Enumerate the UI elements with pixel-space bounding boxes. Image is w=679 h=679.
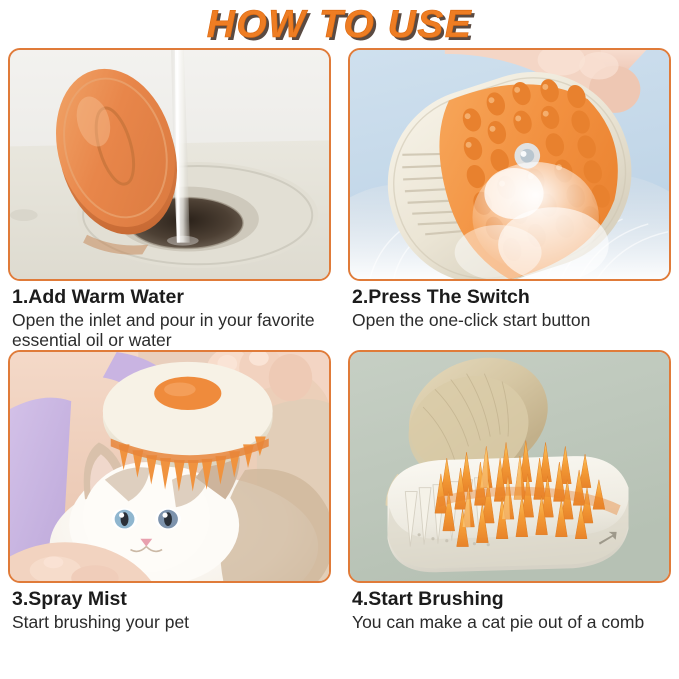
photo-press-the-switch bbox=[348, 48, 671, 281]
illustration-press-the-switch bbox=[350, 50, 669, 279]
how-to-use-steps-grid: 1.Add Warm Water Open the inlet and pour… bbox=[0, 48, 679, 633]
step-title-4: 4.Start Brushing bbox=[352, 589, 669, 611]
step-title-3: 3.Spray Mist bbox=[12, 589, 329, 611]
photo-add-warm-water bbox=[8, 48, 331, 281]
page-title: HOW TO USE bbox=[207, 5, 473, 44]
step-title-1: 1.Add Warm Water bbox=[12, 287, 329, 309]
header: HOW TO USE bbox=[0, 0, 679, 48]
illustration-add-warm-water bbox=[10, 50, 329, 279]
step-description-3: Start brushing your pet bbox=[12, 612, 329, 632]
step-description-2: Open the one-click start button bbox=[352, 310, 669, 330]
illustration-start-brushing bbox=[350, 352, 669, 581]
caption-2: 2.Press The Switch Open the one-click st… bbox=[348, 281, 671, 330]
step-title-2: 2.Press The Switch bbox=[352, 287, 669, 309]
step-card-1: 1.Add Warm Water Open the inlet and pour… bbox=[0, 48, 339, 350]
step-card-2: 2.Press The Switch Open the one-click st… bbox=[340, 48, 679, 350]
caption-1: 1.Add Warm Water Open the inlet and pour… bbox=[8, 281, 331, 350]
step-description-1: Open the inlet and pour in your favorite… bbox=[12, 310, 329, 351]
illustration-spray-mist bbox=[10, 352, 329, 581]
photo-spray-mist bbox=[8, 350, 331, 583]
photo-start-brushing bbox=[348, 350, 671, 583]
caption-3: 3.Spray Mist Start brushing your pet bbox=[8, 583, 331, 632]
caption-4: 4.Start Brushing You can make a cat pie … bbox=[348, 583, 671, 632]
step-card-4: 4.Start Brushing You can make a cat pie … bbox=[340, 350, 679, 632]
step-card-3: 3.Spray Mist Start brushing your pet bbox=[0, 350, 339, 632]
step-description-4: You can make a cat pie out of a comb bbox=[352, 612, 669, 632]
